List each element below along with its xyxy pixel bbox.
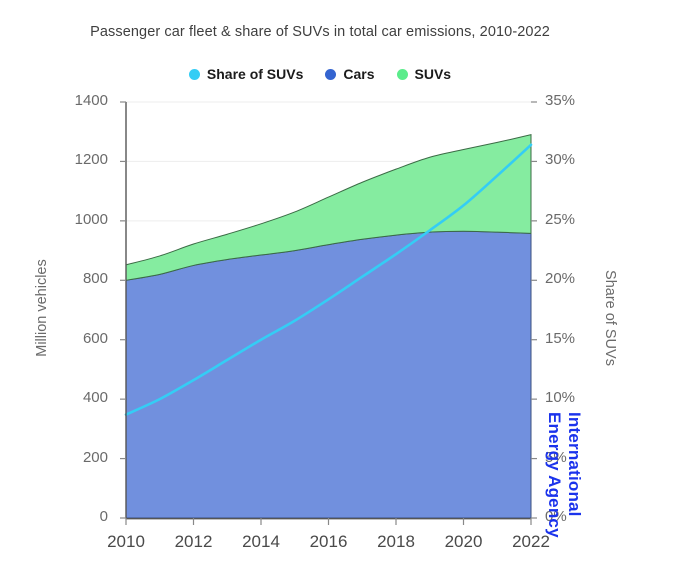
y-tick-label-right: 20% — [545, 270, 605, 287]
x-tick-label: 2010 — [91, 532, 161, 552]
y-axis-title-left: Million vehicles — [34, 238, 50, 378]
area-series-cars — [126, 231, 531, 518]
x-tick-label: 2016 — [294, 532, 364, 552]
y-axis-title-right: Share of SUVs — [602, 248, 618, 388]
y-tick-label-left: 200 — [48, 449, 108, 466]
y-tick-marks-left — [120, 102, 126, 518]
y-tick-label-left: 600 — [48, 330, 108, 347]
y-tick-label-left: 800 — [48, 270, 108, 287]
x-tick-label: 2014 — [226, 532, 296, 552]
y-tick-label-right: 15% — [545, 330, 605, 347]
y-tick-label-left: 400 — [48, 389, 108, 406]
y-tick-label-right: 25% — [545, 211, 605, 228]
y-tick-label-left: 1200 — [48, 151, 108, 168]
y-tick-label-right: 10% — [545, 389, 605, 406]
plot-area — [0, 0, 700, 576]
y-tick-label-right: 35% — [545, 92, 605, 109]
y-tick-marks-right — [531, 102, 537, 518]
x-tick-label: 2012 — [159, 532, 229, 552]
x-tick-label: 2020 — [429, 532, 499, 552]
chart-figure: Passenger car fleet & share of SUVs in t… — [0, 0, 700, 576]
y-tick-label-left: 1000 — [48, 211, 108, 228]
y-tick-label-left: 1400 — [48, 92, 108, 109]
iea-branding-watermark: International Energy Agency — [544, 412, 584, 572]
x-tick-label: 2018 — [361, 532, 431, 552]
y-tick-label-left: 0 — [48, 508, 108, 525]
y-tick-label-right: 30% — [545, 151, 605, 168]
